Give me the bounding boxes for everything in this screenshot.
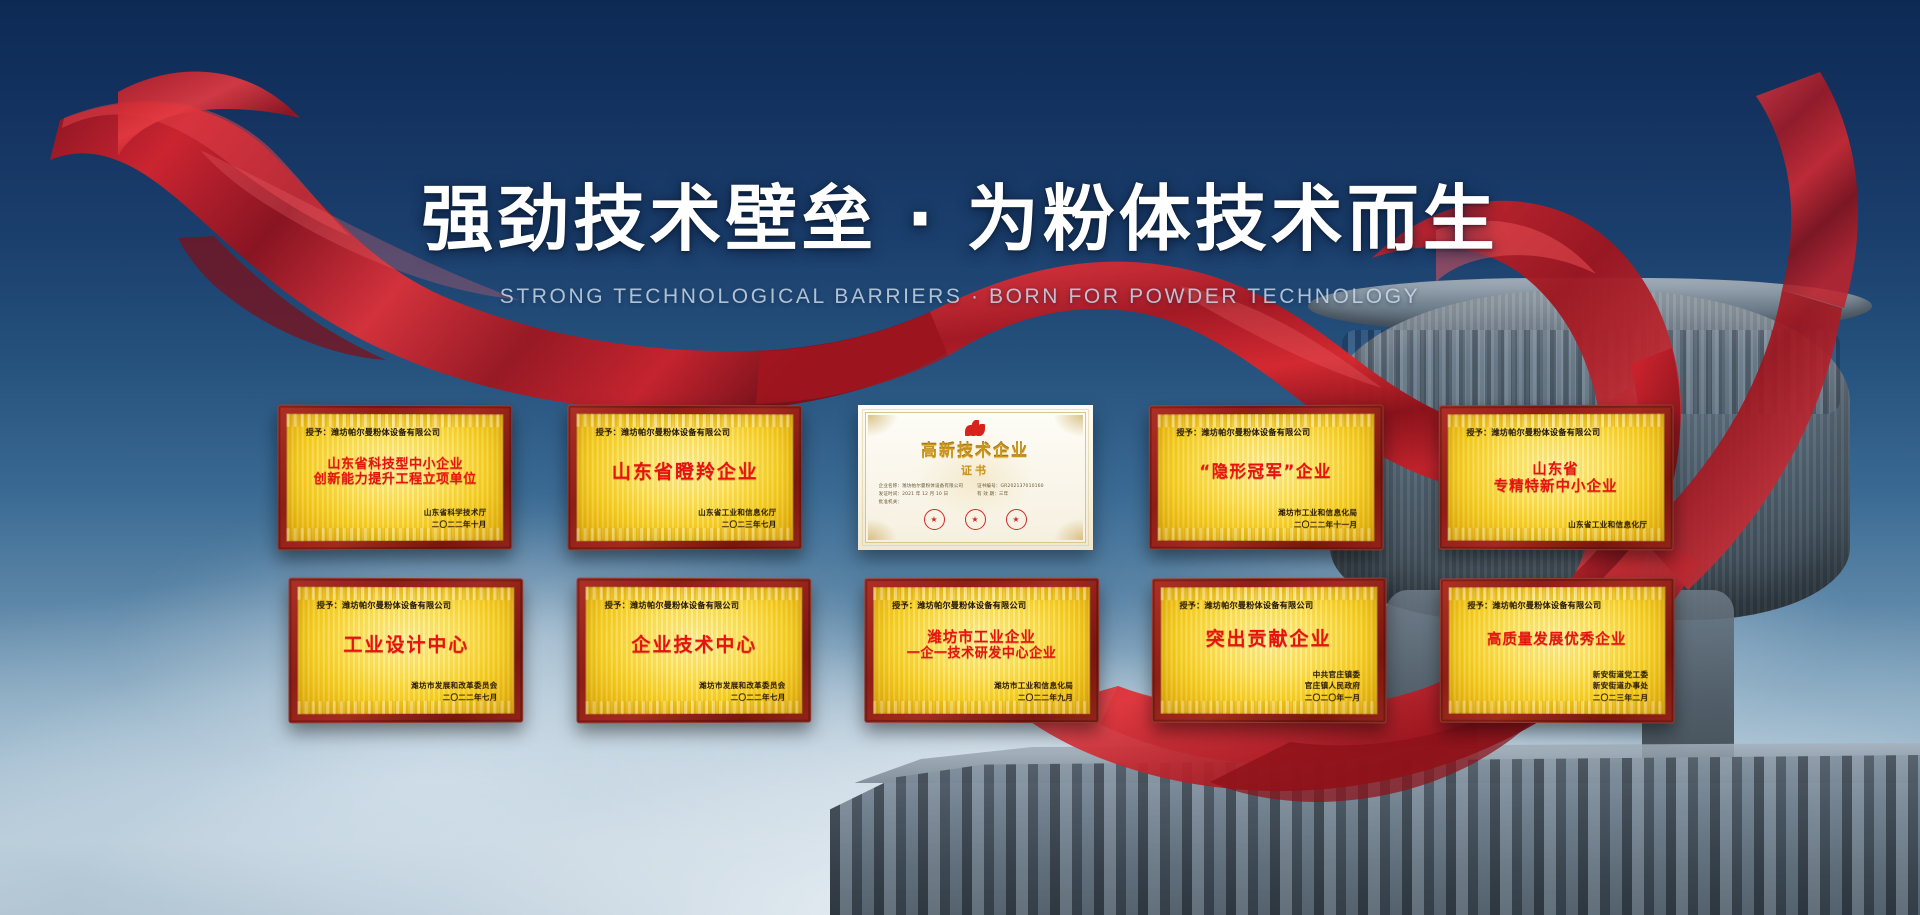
certificate-cell: 授予：潍坊帕尔曼粉体设备有限公司 高质量发展优秀企业 新安街道党工委 新安街道办… <box>1413 578 1700 723</box>
issuer-line: 山东省科学技术厅 <box>299 507 486 519</box>
certificate-cell: 授予：潍坊帕尔曼粉体设备有限公司 山东省科技型中小企业 创新能力提升工程立项单位… <box>250 405 540 550</box>
issuer-line: 山东省工业和信息化厅 <box>1460 518 1647 530</box>
plaque-awardee: 授予：潍坊帕尔曼粉体设备有限公司 <box>1180 599 1365 611</box>
certificate-title: 高新技术企业 <box>921 437 1029 461</box>
certificate-row-1: 授予：潍坊帕尔曼粉体设备有限公司 山东省科技型中小企业 创新能力提升工程立项单位… <box>250 405 1700 550</box>
plaque-award-title: 山东省科技型中小企业 创新能力提升工程立项单位 <box>299 438 490 508</box>
plaque-award-title: 潍坊市工业企业 一企一技术研发中心企业 <box>886 611 1077 680</box>
certificate-gallery: 授予：潍坊帕尔曼粉体设备有限公司 山东省科技型中小企业 创新能力提升工程立项单位… <box>250 405 1700 723</box>
award-line: 山东省瞪羚企业 <box>611 462 758 483</box>
award-line: 专精特新中小企业 <box>1493 479 1617 495</box>
plaque-issuer: 中共官庄镇委 官庄镇人民政府 二〇二〇年一月 <box>1174 669 1361 703</box>
issuer-date: 二〇二二年十月 <box>299 518 486 530</box>
certificate-corner-ornament <box>868 415 898 437</box>
award-line: 山东省 <box>1532 462 1578 478</box>
plaque-plate: 授予：潍坊帕尔曼粉体设备有限公司 工业设计中心 潍坊市发展和改革委员会 二〇二二… <box>298 587 515 715</box>
plaque-plate: 授予：潍坊帕尔曼粉体设备有限公司 高质量发展优秀企业 新安街道党工委 新安街道办… <box>1448 587 1665 715</box>
award-line: 高质量发展优秀企业 <box>1487 632 1626 648</box>
certificate-field: 企业名称：潍坊帕尔曼粉体设备有限公司 <box>879 483 973 489</box>
certificate-cell: 授予：潍坊帕尔曼粉体设备有限公司 突出贡献企业 中共官庄镇委 官庄镇人民政府 二… <box>1125 578 1412 723</box>
award-line: “隐形冠军”企业 <box>1199 463 1332 482</box>
plaque-plate: 授予：潍坊帕尔曼粉体设备有限公司 山东省 专精特新中小企业 山东省工业和信息化厅 <box>1447 414 1664 542</box>
plaque-weifang-one-enterprise-one-tech[interactable]: 授予：潍坊帕尔曼粉体设备有限公司 潍坊市工业企业 一企一技术研发中心企业 潍坊市… <box>864 578 1099 723</box>
award-line: 工业设计中心 <box>344 635 470 656</box>
official-seal-icon <box>1006 509 1027 530</box>
plaque-award-title: 山东省 专精特新中小企业 <box>1460 438 1651 519</box>
plaque-industrial-design-center[interactable]: 授予：潍坊帕尔曼粉体设备有限公司 工业设计中心 潍坊市发展和改革委员会 二〇二二… <box>289 578 524 724</box>
certificate-field: 批准机关： <box>879 499 973 505</box>
issuer-line: 新安街道办事处 <box>1461 680 1648 692</box>
certificate-cell: 授予：潍坊帕尔曼粉体设备有限公司 山东省瞪羚企业 山东省工业和信息化厅 二〇二三… <box>540 405 830 550</box>
certificate-subtitle: 证书 <box>961 462 989 478</box>
issuer-date: 二〇二三年二月 <box>1461 691 1648 703</box>
plaque-plate: 授予：潍坊帕尔曼粉体设备有限公司 “隐形冠军”企业 潍坊市工业和信息化局 二〇二… <box>1157 414 1374 542</box>
plaque-issuer: 潍坊市工业和信息化局 二〇二二年十一月 <box>1170 507 1357 530</box>
plaque-issuer: 山东省工业和信息化厅 <box>1460 518 1647 530</box>
issuer-line: 潍坊市工业和信息化局 <box>886 680 1073 692</box>
official-seal-icon <box>924 509 945 530</box>
issuer-line: 新安街道党工委 <box>1461 669 1648 681</box>
award-line: 企业技术中心 <box>631 635 757 656</box>
issuer-date: 二〇二二年七月 <box>311 691 498 703</box>
plaque-awardee: 授予：潍坊帕尔曼粉体设备有限公司 <box>305 426 490 438</box>
plaque-issuer: 潍坊市发展和改革委员会 二〇二二年七月 <box>598 680 785 703</box>
plaque-award-title: 山东省瞪羚企业 <box>589 438 780 508</box>
plaque-awardee: 授予：潍坊帕尔曼粉体设备有限公司 <box>595 426 780 438</box>
award-line: 山东省科技型中小企业 <box>327 457 463 472</box>
page-subtitle: STRONG TECHNOLOGICAL BARRIERS · BORN FOR… <box>0 285 1920 309</box>
certificate-corner-ornament <box>1053 415 1083 437</box>
certificate-corner-ornament <box>1053 518 1083 540</box>
certificate-field: 有 效 期：三年 <box>977 491 1071 497</box>
plaque-issuer: 新安街道党工委 新安街道办事处 二〇二三年二月 <box>1461 669 1648 703</box>
plaque-plate: 授予：潍坊帕尔曼粉体设备有限公司 山东省科技型中小企业 创新能力提升工程立项单位… <box>286 414 503 542</box>
issuer-line: 潍坊市发展和改革委员会 <box>311 680 498 692</box>
issuer-line: 中共官庄镇委 <box>1174 669 1361 681</box>
banner-heading: 强劲技术壁垒 · 为粉体技术而生 STRONG TECHNOLOGICAL BA… <box>0 0 1920 309</box>
plaque-awardee: 授予：潍坊帕尔曼粉体设备有限公司 <box>1466 426 1651 438</box>
banner-stage: 强劲技术壁垒 · 为粉体技术而生 STRONG TECHNOLOGICAL BA… <box>0 0 1920 915</box>
certificate-cell: 授予：潍坊帕尔曼粉体设备有限公司 山东省 专精特新中小企业 山东省工业和信息化厅 <box>1410 405 1700 550</box>
issuer-line: 山东省工业和信息化厅 <box>589 507 776 519</box>
page-title: 强劲技术壁垒 · 为粉体技术而生 <box>0 160 1920 265</box>
plaque-shandong-gazelle[interactable]: 授予：潍坊帕尔曼粉体设备有限公司 山东省瞪羚企业 山东省工业和信息化厅 二〇二三… <box>567 405 802 551</box>
certificate-seals <box>924 509 1027 530</box>
issuer-date: 二〇二二年九月 <box>886 692 1073 704</box>
certificate-cell: 授予：潍坊帕尔曼粉体设备有限公司 企业技术中心 潍坊市发展和改革委员会 二〇二二… <box>550 578 837 723</box>
official-seal-icon <box>965 509 986 530</box>
certificate-cell: 授予：潍坊帕尔曼粉体设备有限公司 “隐形冠军”企业 潍坊市工业和信息化局 二〇二… <box>1120 405 1410 550</box>
plaque-hidden-champion[interactable]: 授予：潍坊帕尔曼粉体设备有限公司 “隐形冠军”企业 潍坊市工业和信息化局 二〇二… <box>1148 405 1383 551</box>
award-line: 潍坊市工业企业 <box>927 630 1035 646</box>
plaque-plate: 授予：潍坊帕尔曼粉体设备有限公司 潍坊市工业企业 一企一技术研发中心企业 潍坊市… <box>873 587 1090 714</box>
plaque-shandong-specialized-sme[interactable]: 授予：潍坊帕尔曼粉体设备有限公司 山东省 专精特新中小企业 山东省工业和信息化厅 <box>1438 405 1673 551</box>
issuer-date: 二〇二二年七月 <box>598 691 785 703</box>
plaque-awardee: 授予：潍坊帕尔曼粉体设备有限公司 <box>1467 599 1652 611</box>
plaque-award-title: 工业设计中心 <box>311 611 502 681</box>
certificate-field: 证书编号：GR202137010160 <box>977 483 1071 489</box>
certificate-cell: 授予：潍坊帕尔曼粉体设备有限公司 工业设计中心 潍坊市发展和改革委员会 二〇二二… <box>263 578 550 723</box>
plaque-awardee: 授予：潍坊帕尔曼粉体设备有限公司 <box>604 599 789 611</box>
plaque-issuer: 潍坊市发展和改革委员会 二〇二二年七月 <box>311 680 498 703</box>
issuer-line: 官庄镇人民政府 <box>1174 680 1361 692</box>
plaque-awardee: 授予：潍坊帕尔曼粉体设备有限公司 <box>317 599 502 611</box>
certificate-inner: 高新技术企业 证书 企业名称：潍坊帕尔曼粉体设备有限公司 证书编号：GR2021… <box>865 412 1086 543</box>
plaque-plate: 授予：潍坊帕尔曼粉体设备有限公司 山东省瞪羚企业 山东省工业和信息化厅 二〇二三… <box>576 414 793 542</box>
high-tech-enterprise-certificate[interactable]: 高新技术企业 证书 企业名称：潍坊帕尔曼粉体设备有限公司 证书编号：GR2021… <box>858 405 1093 550</box>
plaque-issuer: 山东省工业和信息化厅 二〇二三年七月 <box>589 507 776 530</box>
plaque-issuer: 潍坊市工业和信息化局 二〇二二年九月 <box>886 680 1073 703</box>
plaque-awardee: 授予：潍坊帕尔曼粉体设备有限公司 <box>892 599 1077 611</box>
plaque-award-title: 高质量发展优秀企业 <box>1461 611 1652 669</box>
award-line: 突出贡献企业 <box>1206 629 1332 650</box>
carved-plinth <box>830 755 1920 915</box>
plaque-shandong-tech-sme[interactable]: 授予：潍坊帕尔曼粉体设备有限公司 山东省科技型中小企业 创新能力提升工程立项单位… <box>277 405 512 551</box>
flame-icon <box>965 420 985 436</box>
issuer-date: 二〇二三年七月 <box>589 518 776 530</box>
plaque-award-title: “隐形冠军”企业 <box>1170 438 1361 508</box>
issuer-line: 潍坊市工业和信息化局 <box>1170 507 1357 519</box>
plaque-plate: 授予：潍坊帕尔曼粉体设备有限公司 突出贡献企业 中共官庄镇委 官庄镇人民政府 二… <box>1161 587 1378 715</box>
award-line: 一企一技术研发中心企业 <box>907 647 1057 662</box>
certificate-corner-ornament <box>868 518 898 540</box>
vessel-carved-band <box>1342 330 1840 414</box>
plaque-high-quality-development[interactable]: 授予：潍坊帕尔曼粉体设备有限公司 高质量发展优秀企业 新安街道党工委 新安街道办… <box>1440 578 1675 724</box>
issuer-date: 二〇二〇年一月 <box>1174 691 1361 703</box>
issuer-date: 二〇二二年十一月 <box>1170 518 1357 530</box>
certificate-row-2: 授予：潍坊帕尔曼粉体设备有限公司 工业设计中心 潍坊市发展和改革委员会 二〇二二… <box>263 578 1700 723</box>
plaque-plate: 授予：潍坊帕尔曼粉体设备有限公司 企业技术中心 潍坊市发展和改革委员会 二〇二二… <box>585 587 802 715</box>
issuer-line: 潍坊市发展和改革委员会 <box>598 680 785 692</box>
certificate-cell: 授予：潍坊帕尔曼粉体设备有限公司 潍坊市工业企业 一企一技术研发中心企业 潍坊市… <box>838 578 1125 723</box>
plaque-enterprise-tech-center[interactable]: 授予：潍坊帕尔曼粉体设备有限公司 企业技术中心 潍坊市发展和改革委员会 二〇二二… <box>576 578 811 724</box>
certificate-field: 发证时间：2021 年 12 月 10 日 <box>879 491 973 497</box>
certificate-cell: 高新技术企业 证书 企业名称：潍坊帕尔曼粉体设备有限公司 证书编号：GR2021… <box>830 405 1120 550</box>
plaque-issuer: 山东省科学技术厅 二〇二二年十月 <box>299 507 486 530</box>
plaque-award-title: 企业技术中心 <box>598 611 789 681</box>
plaque-awardee: 授予：潍坊帕尔曼粉体设备有限公司 <box>1176 426 1361 438</box>
plaque-outstanding-contribution[interactable]: 授予：潍坊帕尔曼粉体设备有限公司 突出贡献企业 中共官庄镇委 官庄镇人民政府 二… <box>1152 578 1387 724</box>
certificate-fields: 企业名称：潍坊帕尔曼粉体设备有限公司 证书编号：GR202137010160 发… <box>879 483 1072 505</box>
plaque-award-title: 突出贡献企业 <box>1174 611 1365 669</box>
award-line: 创新能力提升工程立项单位 <box>313 473 476 488</box>
